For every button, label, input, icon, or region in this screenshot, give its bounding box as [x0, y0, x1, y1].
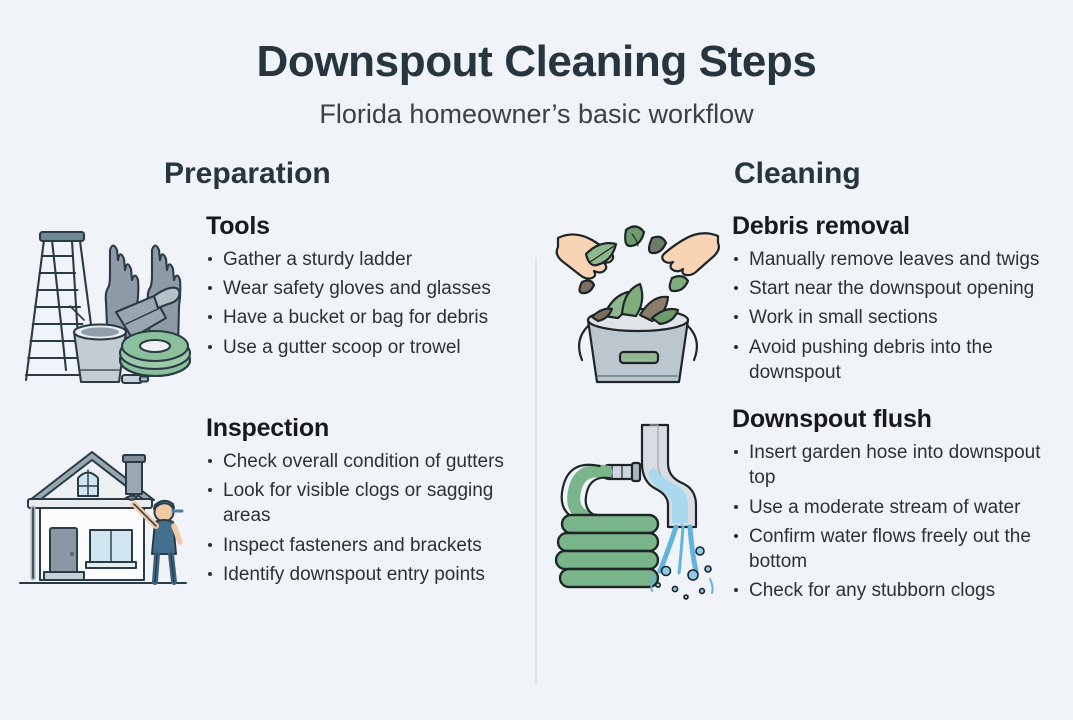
house-gutter-inspector-illustration	[14, 442, 200, 592]
block-body-downspout-flush: Downspout flush Insert garden hose into …	[732, 405, 1058, 607]
list-item: Use a moderate stream of water	[732, 495, 1058, 520]
column-preparation: Preparation	[0, 157, 536, 619]
list-item: Start near the downspout opening	[732, 276, 1058, 301]
column-title-preparation: Preparation	[28, 157, 518, 190]
block-heading-debris-removal: Debris removal	[732, 212, 1058, 241]
block-heading-tools: Tools	[206, 212, 518, 241]
block-heading-inspection: Inspection	[206, 414, 518, 443]
list-item: Manually remove leaves and twigs	[732, 247, 1058, 272]
column-cleaning: Cleaning	[536, 157, 1072, 619]
bullet-list-debris-removal: Manually remove leaves and twigs Start n…	[732, 247, 1058, 385]
block-tools: Tools Gather a sturdy ladder Wear safety…	[28, 212, 518, 388]
block-body-tools: Tools Gather a sturdy ladder Wear safety…	[206, 212, 518, 364]
list-item: Inspect fasteners and brackets	[206, 533, 518, 558]
list-item: Insert garden hose into downspout top	[732, 440, 1058, 491]
list-item: Identify downspout entry points	[206, 562, 518, 587]
list-item: Check for any stubborn clogs	[732, 578, 1058, 603]
list-item: Confirm water flows freely out the botto…	[732, 524, 1058, 575]
page-subtitle: Florida homeowner’s basic workflow	[0, 100, 1073, 130]
page-title: Downspout Cleaning Steps	[0, 38, 1073, 86]
list-item: Work in small sections	[732, 305, 1058, 330]
block-inspection: Inspection Check overall condition of gu…	[28, 414, 518, 592]
list-item: Look for visible clogs or sagging areas	[206, 478, 518, 529]
block-heading-downspout-flush: Downspout flush	[732, 405, 1058, 434]
block-downspout-flush: Downspout flush Insert garden hose into …	[556, 405, 1058, 619]
list-item: Use a gutter scoop or trowel	[206, 335, 518, 360]
bullet-list-inspection: Check overall condition of gutters Look …	[206, 449, 518, 587]
list-item: Check overall condition of gutters	[206, 449, 518, 474]
columns-container: Preparation	[0, 157, 1073, 619]
list-item: Wear safety gloves and glasses	[206, 276, 518, 301]
bullet-list-downspout-flush: Insert garden hose into downspout top Us…	[732, 440, 1058, 604]
column-title-cleaning: Cleaning	[556, 157, 1058, 190]
block-body-debris-removal: Debris removal Manually remove leaves an…	[732, 212, 1058, 389]
hose-downspout-water-illustration	[550, 419, 728, 619]
list-item: Avoid pushing debris into the downspout	[732, 335, 1058, 386]
list-item: Have a bucket or bag for debris	[206, 305, 518, 330]
hands-leaves-bucket-illustration	[552, 216, 724, 388]
ladder-gloves-bucket-hose-illustration	[14, 220, 200, 388]
block-debris-removal: Debris removal Manually remove leaves an…	[556, 212, 1058, 389]
block-body-inspection: Inspection Check overall condition of gu…	[206, 414, 518, 591]
list-item: Gather a sturdy ladder	[206, 247, 518, 272]
infographic-header: Downspout Cleaning Steps Florida homeown…	[0, 0, 1073, 129]
bullet-list-tools: Gather a sturdy ladder Wear safety glove…	[206, 247, 518, 360]
infographic-canvas: Downspout Cleaning Steps Florida homeown…	[0, 0, 1073, 720]
